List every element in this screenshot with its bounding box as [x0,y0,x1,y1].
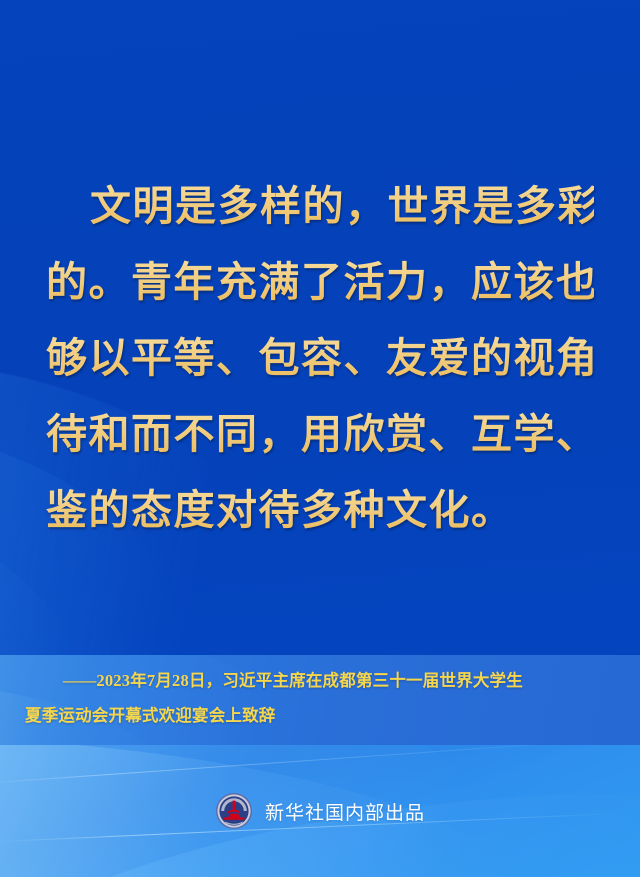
quote-line-1: 文明是多样的，世界是多彩 [46,168,594,244]
quote-line-4: 待和而不同，用欣赏、互学、互 [46,396,594,472]
quote-text-block: 文明是多样的，世界是多彩 的。青年充满了活力，应该也能 够以平等、包容、友爱的视… [46,168,594,548]
quote-line-3: 够以平等、包容、友爱的视角看 [46,320,594,396]
attribution-text: ——2023年7月28日，习近平主席在成都第三十一届世界大学生 夏季运动会开幕式… [25,663,617,733]
footer-bar: 新华社国内部出品 [0,745,640,877]
quote-poster: 文明是多样的，世界是多彩 的。青年充满了活力，应该也能 够以平等、包容、友爱的视… [0,0,640,877]
attribution-band: ——2023年7月28日，习近平主席在成都第三十一届世界大学生 夏季运动会开幕式… [0,655,640,745]
quote-line-2: 的。青年充满了活力，应该也能 [46,244,594,320]
footer-content: 新华社国内部出品 [0,745,640,877]
quote-line-5: 鉴的态度对待多种文化。 [46,472,594,548]
xinhua-logo-icon [215,792,253,830]
attribution-line-1: ——2023年7月28日，习近平主席在成都第三十一届世界大学生 [25,663,617,698]
attribution-line-2: 夏季运动会开幕式欢迎宴会上致辞 [25,698,617,733]
footer-label: 新华社国内部出品 [265,798,425,825]
